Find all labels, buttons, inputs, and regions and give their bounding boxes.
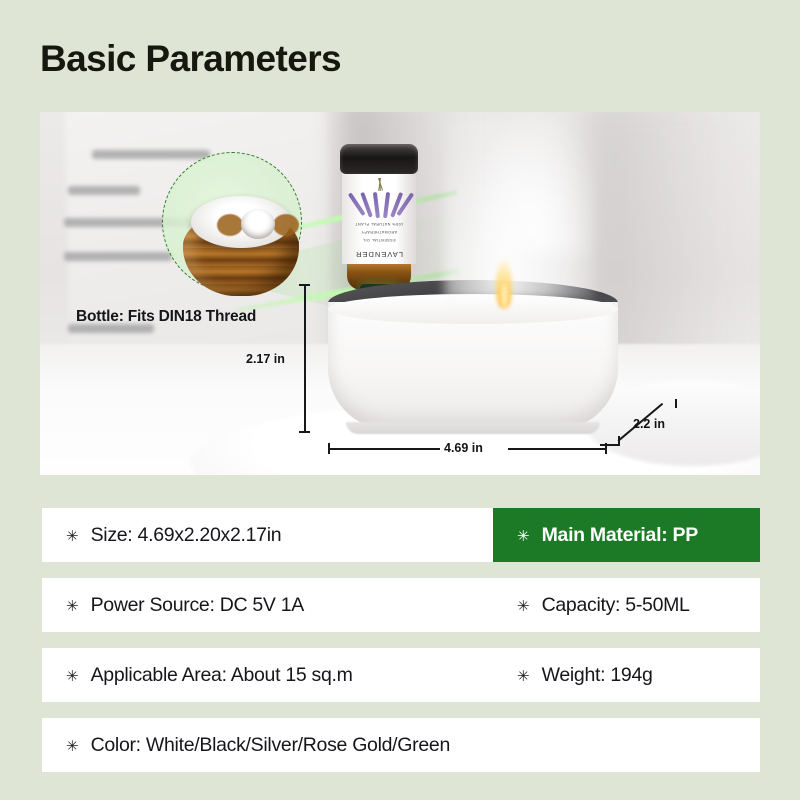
bottle-label: 100% NATURAL PLANT AROMATHERAPY ESSENTIA… bbox=[342, 170, 416, 264]
blurred-text-line bbox=[92, 150, 210, 159]
spec-text: Size: 4.69x2.20x2.17in bbox=[91, 524, 282, 547]
spec-row: ✳ Applicable Area: About 15 sq.m ✳ Weigh… bbox=[42, 648, 760, 702]
spec-cell-color[interactable]: ✳ Color: White/Black/Silver/Rose Gold/Gr… bbox=[42, 718, 760, 772]
blurred-text-line bbox=[68, 186, 140, 195]
spec-text: Main Material: PP bbox=[542, 524, 698, 547]
bullet-asterisk-icon: ✳ bbox=[517, 599, 530, 614]
bottle-label-brand: LAVENDER bbox=[342, 250, 416, 259]
product-photo: 100% NATURAL PLANT AROMATHERAPY ESSENTIA… bbox=[40, 112, 760, 475]
spec-row: ✳ Color: White/Black/Silver/Rose Gold/Gr… bbox=[42, 718, 760, 772]
din18-thread-hole bbox=[241, 209, 275, 239]
bottle-cap-closeup bbox=[175, 190, 307, 296]
dim-depth-leader bbox=[600, 444, 620, 446]
dim-width-line-left bbox=[328, 448, 440, 450]
bottle-label-line2: AROMATHERAPY bbox=[342, 230, 416, 234]
bottle-label-line1: ESSENTIAL OIL bbox=[342, 238, 416, 242]
bullet-asterisk-icon: ✳ bbox=[66, 529, 79, 544]
lavender-illustration bbox=[342, 178, 416, 214]
bullet-asterisk-icon: ✳ bbox=[517, 529, 530, 544]
dim-depth-label: 2.2 in bbox=[633, 417, 665, 431]
spec-cell-size[interactable]: ✳ Size: 4.69x2.20x2.17in bbox=[42, 508, 493, 562]
callout-bottle-thread: Bottle: Fits DIN18 Thread bbox=[76, 308, 256, 326]
diffuser-foot bbox=[346, 422, 600, 434]
bullet-asterisk-icon: ✳ bbox=[66, 739, 79, 754]
spec-text: Weight: 194g bbox=[542, 664, 653, 687]
spec-cell-capacity[interactable]: ✳ Capacity: 5-50ML bbox=[493, 578, 760, 632]
dim-height-label: 2.17 in bbox=[246, 352, 285, 366]
bullet-asterisk-icon: ✳ bbox=[517, 669, 530, 684]
spec-cell-applicable-area[interactable]: ✳ Applicable Area: About 15 sq.m bbox=[42, 648, 493, 702]
dim-height-tick-bottom bbox=[299, 431, 310, 433]
mist-plume-upper bbox=[480, 112, 600, 254]
page-title: Basic Parameters bbox=[40, 36, 341, 82]
dim-height-tick-top bbox=[299, 284, 310, 286]
spec-text: Color: White/Black/Silver/Rose Gold/Gree… bbox=[91, 734, 450, 757]
cap-gap-left bbox=[217, 214, 243, 236]
dim-height-line bbox=[304, 284, 306, 432]
dim-depth-tick-far bbox=[675, 399, 677, 408]
bottle-cap-white bbox=[191, 196, 291, 248]
spec-text: Capacity: 5-50ML bbox=[542, 594, 690, 617]
spec-text: Applicable Area: About 15 sq.m bbox=[91, 664, 353, 687]
cap-gap-right bbox=[273, 214, 299, 236]
bottle-cap-black bbox=[340, 144, 418, 174]
spec-cell-power-source[interactable]: ✳ Power Source: DC 5V 1A bbox=[42, 578, 493, 632]
blurred-text-line bbox=[64, 252, 172, 261]
spec-text: Power Source: DC 5V 1A bbox=[91, 594, 304, 617]
dim-width-tick-left bbox=[328, 443, 330, 454]
dim-width-label: 4.69 in bbox=[444, 441, 483, 455]
nozzle-light-core bbox=[501, 284, 508, 308]
spec-cell-main-material[interactable]: ✳ Main Material: PP bbox=[493, 508, 760, 562]
spec-row: ✳ Power Source: DC 5V 1A ✳ Capacity: 5-5… bbox=[42, 578, 760, 632]
diffuser-unit bbox=[328, 280, 618, 438]
dim-width-line-right bbox=[508, 448, 606, 450]
spec-row: ✳ Size: 4.69x2.20x2.17in ✳ Main Material… bbox=[42, 508, 760, 562]
bullet-asterisk-icon: ✳ bbox=[66, 669, 79, 684]
spec-cell-weight[interactable]: ✳ Weight: 194g bbox=[493, 648, 760, 702]
bottle-label-line3: 100% NATURAL PLANT bbox=[342, 222, 416, 226]
bullet-asterisk-icon: ✳ bbox=[66, 599, 79, 614]
